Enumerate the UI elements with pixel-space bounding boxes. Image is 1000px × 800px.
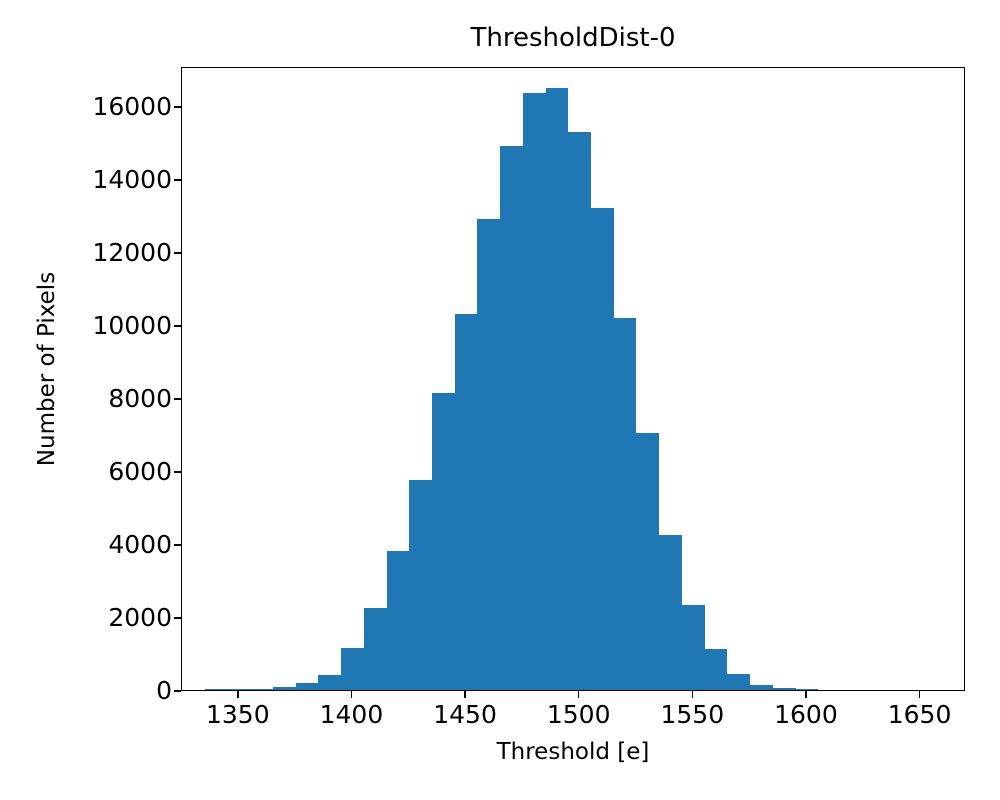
- y-tick-mark: [174, 179, 181, 181]
- x-tick-mark: [351, 691, 353, 698]
- histogram-bar: [205, 689, 228, 690]
- histogram-bar: [250, 689, 273, 690]
- y-tick-mark: [174, 325, 181, 327]
- histogram-bar: [636, 433, 659, 690]
- y-axis-tick-labels: 0200040006000800010000120001400016000: [0, 0, 172, 800]
- histogram-bar: [523, 93, 546, 690]
- y-tick-label: 0: [156, 678, 172, 703]
- histogram-bar: [341, 648, 364, 690]
- histogram-bar: [773, 688, 796, 690]
- plot-area: [181, 67, 965, 691]
- histogram-bar: [318, 675, 341, 690]
- x-tick-label: 1400: [291, 701, 411, 729]
- chart-figure: ThresholdDist-0 Number of Pixels 0200040…: [0, 0, 1000, 800]
- histogram-bar: [568, 132, 591, 690]
- histogram-bar: [387, 551, 410, 690]
- histogram-bar: [227, 689, 250, 690]
- histogram-bars: [182, 68, 964, 690]
- histogram-bar: [591, 208, 614, 690]
- histogram-bar: [682, 605, 705, 690]
- x-tick-mark: [919, 691, 921, 698]
- y-tick-label: 10000: [92, 313, 172, 338]
- histogram-bar: [409, 480, 432, 690]
- histogram-bar: [364, 608, 387, 690]
- x-axis-label: Threshold [e]: [181, 738, 965, 766]
- histogram-bar: [273, 687, 296, 690]
- y-tick-label: 16000: [92, 94, 172, 119]
- x-tick-label: 1600: [746, 701, 866, 729]
- y-tick-mark: [174, 690, 181, 692]
- histogram-bar: [705, 649, 728, 690]
- y-tick-label: 2000: [108, 605, 172, 630]
- y-tick-label: 12000: [92, 240, 172, 265]
- histogram-bar: [750, 685, 773, 690]
- histogram-bar: [727, 674, 750, 690]
- histogram-bar: [296, 683, 319, 690]
- histogram-bar: [477, 219, 500, 690]
- x-tick-mark: [237, 691, 239, 698]
- x-tick-mark: [692, 691, 694, 698]
- y-tick-mark: [174, 544, 181, 546]
- x-tick-mark: [805, 691, 807, 698]
- y-tick-mark: [174, 617, 181, 619]
- x-tick-mark: [464, 691, 466, 698]
- x-tick-label: 1650: [860, 701, 980, 729]
- y-tick-label: 6000: [108, 459, 172, 484]
- x-tick-mark: [578, 691, 580, 698]
- histogram-bar: [432, 393, 455, 690]
- y-tick-mark: [174, 471, 181, 473]
- x-tick-label: 1450: [405, 701, 525, 729]
- x-tick-label: 1350: [178, 701, 298, 729]
- histogram-bar: [659, 535, 682, 690]
- x-tick-label: 1550: [632, 701, 752, 729]
- y-tick-mark: [174, 106, 181, 108]
- y-tick-label: 8000: [108, 386, 172, 411]
- y-tick-label: 14000: [92, 167, 172, 192]
- histogram-bar: [546, 88, 569, 690]
- histogram-bar: [500, 146, 523, 690]
- x-tick-label: 1500: [519, 701, 639, 729]
- y-tick-mark: [174, 398, 181, 400]
- chart-title: ThresholdDist-0: [181, 22, 965, 54]
- histogram-bar: [455, 314, 478, 690]
- histogram-bar: [796, 689, 819, 690]
- y-tick-label: 4000: [108, 532, 172, 557]
- histogram-bar: [614, 318, 637, 690]
- y-tick-mark: [174, 252, 181, 254]
